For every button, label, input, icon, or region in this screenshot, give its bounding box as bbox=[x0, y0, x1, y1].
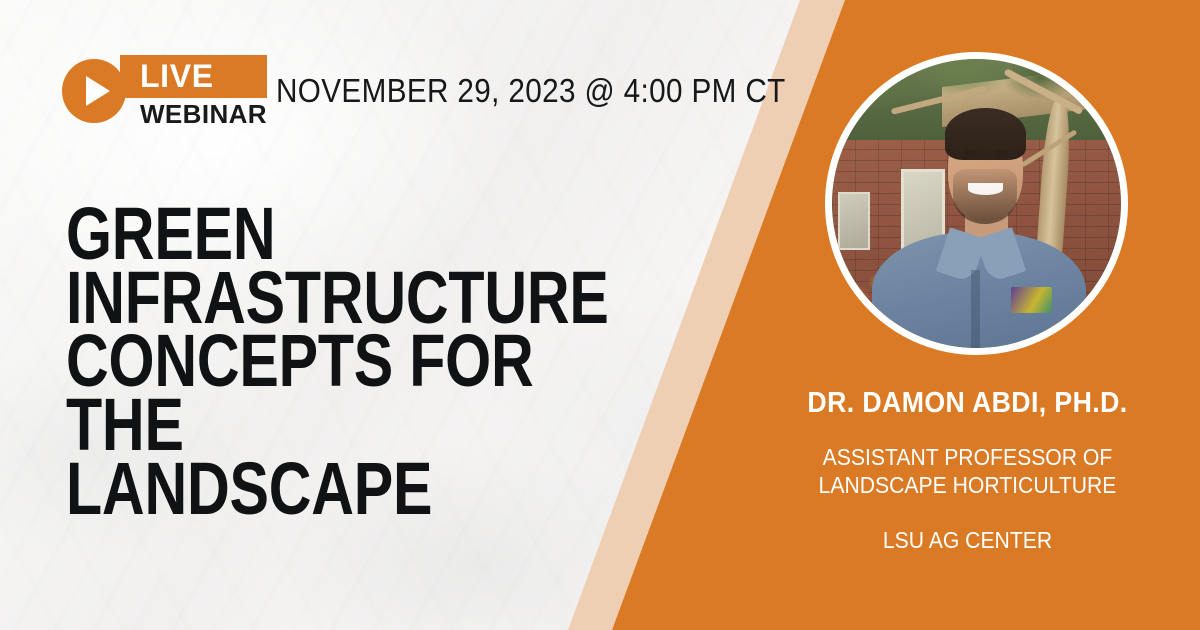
event-date-time: NOVEMBER 29, 2023 @ 4:00 PM CT bbox=[276, 72, 786, 110]
webinar-promo-poster: LIVE WEBINAR NOVEMBER 29, 2023 @ 4:00 PM… bbox=[0, 0, 1200, 630]
speaker-portrait bbox=[825, 52, 1128, 355]
event-title: GREEN INFRASTRUCTURE CONCEPTS FOR THE LA… bbox=[66, 202, 546, 520]
photo-hair bbox=[945, 108, 1026, 160]
play-triangle-icon bbox=[86, 76, 110, 106]
photo-beard bbox=[953, 169, 1017, 224]
photo-eye-right bbox=[994, 149, 1007, 157]
portrait-photo bbox=[832, 59, 1121, 348]
live-badge-label: LIVE bbox=[120, 55, 267, 98]
speaker-name: DR. DAMON ABDI, PH.D. bbox=[795, 388, 1140, 420]
photo-shirt-placket bbox=[971, 270, 980, 348]
speaker-info-block: DR. DAMON ABDI, PH.D. ASSISTANT PROFESSO… bbox=[780, 388, 1155, 555]
speaker-organization: LSU AG CENTER bbox=[795, 527, 1140, 555]
photo-smile bbox=[968, 183, 1003, 195]
live-webinar-logo: LIVE WEBINAR bbox=[62, 55, 267, 127]
logo-text-group: LIVE WEBINAR bbox=[120, 55, 267, 127]
photo-window-secondary bbox=[838, 192, 870, 250]
play-button-icon bbox=[62, 59, 126, 123]
webinar-label: WEBINAR bbox=[120, 101, 267, 127]
photo-eye-left bbox=[963, 149, 976, 157]
photo-lsu-agcenter-logo bbox=[1011, 287, 1051, 313]
speaker-role: ASSISTANT PROFESSOR OF LANDSCAPE HORTICU… bbox=[795, 443, 1140, 500]
